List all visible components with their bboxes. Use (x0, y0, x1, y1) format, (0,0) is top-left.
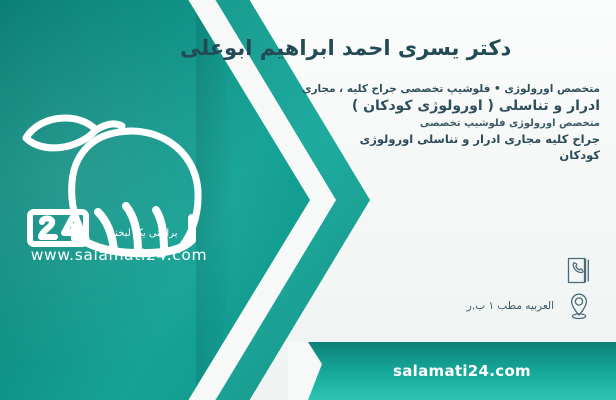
doctor-profile-card: براحتی یک لبخند www.salamati24.com دکتر … (0, 0, 616, 400)
contact-row-phone[interactable] (214, 252, 594, 288)
logo-website: www.salamati24.com (16, 246, 222, 264)
specialty-list: متخصص اورولوژی • فلوشیپ تخصصی جراح کلیه … (270, 82, 600, 164)
footer-bar: salamati24.com (308, 342, 616, 400)
specialty-line-1: متخصص اورولوژی • فلوشیپ تخصصی جراح کلیه … (270, 82, 600, 97)
address-value: العربیه مطب ۱ ب.ر (467, 300, 554, 312)
specialty-line-4: جراح کلیه مجاری ادرار و تناسلی اورولوژی (270, 131, 600, 147)
footer-website: salamati24.com (393, 362, 531, 380)
contact-block: العربیه مطب ۱ ب.ر (214, 252, 594, 324)
phone-book-icon (564, 254, 594, 286)
specialty-line-2: ادرار و تناسلی ( اورولوژی کودکان ) (270, 97, 600, 117)
contact-row-address[interactable]: العربیه مطب ۱ ب.ر (214, 288, 594, 324)
doctor-name: دکتر یسری احمد ابراهیم ابوعلی (180, 36, 600, 60)
map-pin-icon (564, 290, 594, 322)
specialty-line-3: متخصص اورولوژی فلوشیپ تخصصی (270, 117, 600, 131)
specialty-line-5: کودکان (270, 147, 600, 163)
logo-tagline: براحتی یک لبخند (110, 228, 222, 239)
